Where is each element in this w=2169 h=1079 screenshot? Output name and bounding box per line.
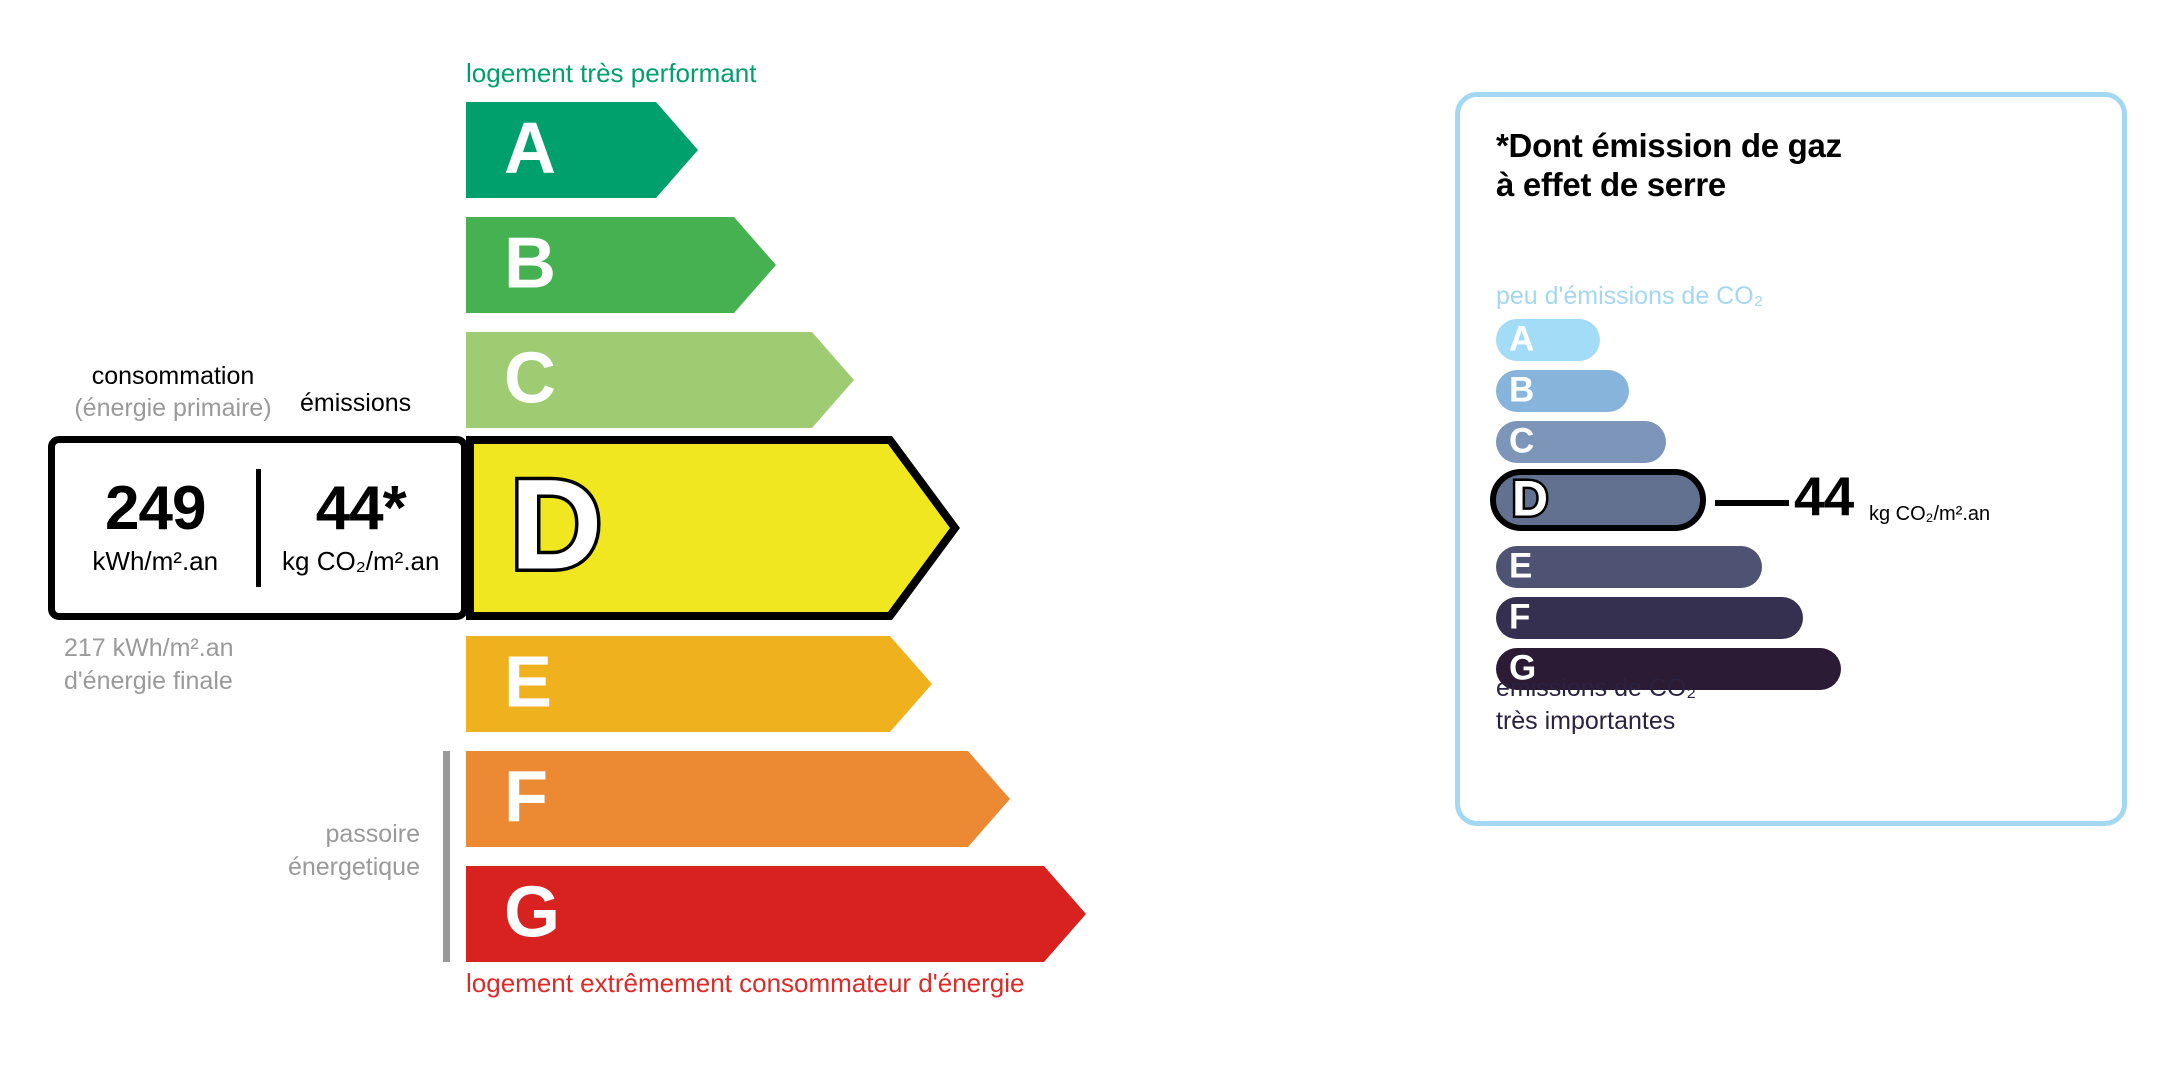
ges-callout-value: 44 [1794, 469, 1853, 524]
ges-callout-leader-line [1715, 500, 1789, 506]
consumption-unit: kWh/m².an [55, 546, 256, 577]
ges-bar-f: F [1496, 597, 1803, 639]
ges-co2-panel: *Dont émission de gaz à effet de serre p… [1455, 92, 2127, 826]
energy-band-e-letter: E [504, 647, 552, 719]
ges-callout-unit: kg CO₂/m².an [1869, 503, 1990, 526]
consumption-label: consommation (énergie primaire) [48, 360, 298, 424]
emissions-label: émissions [300, 389, 411, 418]
energy-caption-top: logement très performant [466, 58, 756, 89]
consumption-label-sub: (énergie primaire) [48, 392, 298, 424]
ges-title-line-1: *Dont émission de gaz [1496, 127, 1842, 166]
passoire-energetique-rule [443, 751, 450, 962]
ges-bar-c: C [1496, 421, 1666, 463]
energy-band-c-letter: C [504, 343, 556, 415]
ges-bar-a: A [1496, 319, 1600, 361]
ges-bar-e: E [1496, 546, 1762, 588]
energy-band-a-letter: A [504, 113, 556, 185]
energy-band-a-shape [466, 102, 698, 198]
ges-caption-bottom-line-2: très importantes [1496, 705, 1696, 738]
ges-panel-title: *Dont émission de gaz à effet de serre [1496, 127, 1842, 205]
consumption-value: 249 [55, 478, 256, 540]
energy-band-g: G [466, 866, 1086, 962]
ges-bar-a-letter: A [1509, 321, 1534, 356]
energy-band-f-letter: F [504, 762, 548, 834]
consumption-cell: 249 kWh/m².an [55, 478, 256, 577]
final-energy-note: 217 kWh/m².an d'énergie finale [64, 632, 234, 697]
consumption-label-main: consommation [48, 360, 298, 392]
emissions-value: 44* [261, 478, 462, 540]
energy-band-a: A [466, 102, 698, 198]
final-energy-line-1: 217 kWh/m².an [64, 632, 234, 665]
energy-band-c: C [466, 332, 854, 428]
passoire-line-2: énergetique [180, 851, 420, 884]
ges-bar-e-letter: E [1509, 548, 1532, 583]
energy-band-g-letter: G [504, 877, 560, 949]
final-energy-line-2: d'énergie finale [64, 665, 234, 698]
consumption-emissions-box: 249 kWh/m².an 44* kg CO₂/m².an [48, 436, 468, 620]
ges-bar-b: B [1496, 370, 1629, 412]
energy-band-d-letter: D [510, 461, 602, 589]
energy-caption-bottom: logement extrêmement consommateur d'éner… [466, 968, 1024, 999]
energy-band-b: B [466, 217, 776, 313]
ges-caption-top: peu d'émissions de CO₂ [1496, 282, 1763, 311]
emissions-unit: kg CO₂/m².an [261, 546, 462, 577]
ges-bar-f-letter: F [1509, 599, 1530, 634]
energy-band-d-selected: D [466, 436, 960, 620]
ges-bar-d-letter: D [1512, 474, 1548, 524]
dpe-energy-panel: logement très performant A B C D E [0, 0, 1400, 1079]
ges-bar-c-letter: C [1509, 423, 1534, 458]
ges-title-line-2: à effet de serre [1496, 166, 1842, 205]
energy-band-f: F [466, 751, 1010, 847]
passoire-line-1: passoire [180, 818, 420, 851]
ges-caption-bottom: émissions de CO₂ très importantes [1496, 672, 1696, 737]
ges-bar-d-selected: D [1490, 469, 1706, 531]
energy-band-e: E [466, 636, 932, 732]
ges-bar-b-letter: B [1509, 372, 1534, 407]
emissions-cell: 44* kg CO₂/m².an [261, 478, 462, 577]
ges-caption-bottom-line-1: émissions de CO₂ [1496, 672, 1696, 705]
energy-band-b-letter: B [504, 228, 556, 300]
passoire-energetique-label: passoire énergetique [180, 818, 420, 883]
